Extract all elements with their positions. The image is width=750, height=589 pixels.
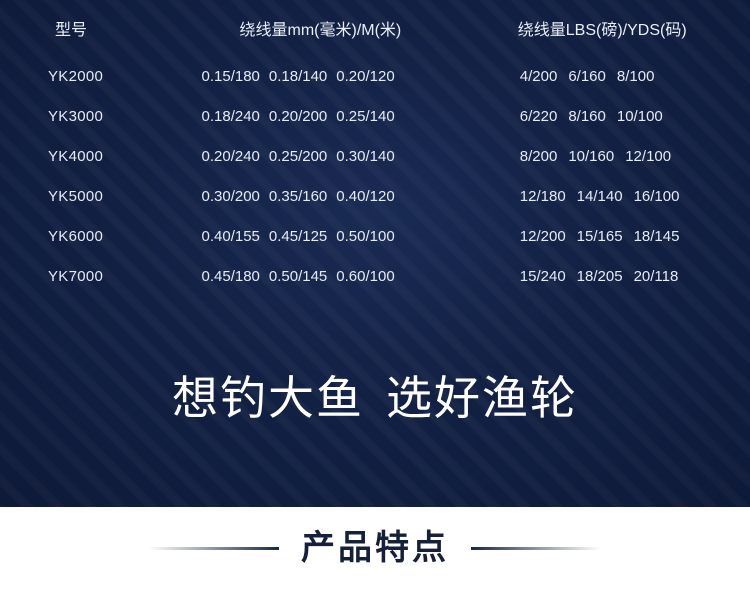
capacity-mm-value: 0.20/240 — [202, 148, 260, 165]
capacity-lbs-group: 8/20010/16012/100 — [520, 148, 671, 165]
capacity-lbs-value: 15/240 — [520, 268, 566, 285]
capacity-mm-value: 0.45/180 — [202, 268, 260, 285]
capacity-mm-value: 0.25/200 — [269, 148, 327, 165]
product-features-heading: 产品特点 — [0, 507, 750, 589]
capacity-mm-group: 0.20/2400.25/2000.30/140 — [202, 148, 395, 165]
capacity-lbs-value: 8/200 — [520, 148, 558, 165]
capacity-lbs-value: 4/200 — [520, 68, 558, 85]
capacity-mm-value: 0.35/160 — [269, 188, 327, 205]
cell-model: YK5000 — [0, 176, 202, 216]
capacity-mm-group: 0.40/1550.45/1250.50/100 — [202, 228, 395, 245]
cell-capacity-mm: 0.30/2000.35/1600.40/120 — [202, 176, 508, 216]
capacity-lbs-value: 6/160 — [568, 68, 606, 85]
capacity-mm-value: 0.45/125 — [269, 228, 327, 245]
table-row: YK5000 0.30/2000.35/1600.40/120 12/18014… — [0, 176, 750, 216]
capacity-lbs-value: 8/160 — [568, 108, 606, 125]
table-header-row: 型号 绕线量mm(毫米)/M(米) 绕线量LBS(磅)/YDS(码) — [0, 0, 750, 56]
specs-panel-content: 型号 绕线量mm(毫米)/M(米) 绕线量LBS(磅)/YDS(码) YK200… — [0, 0, 750, 507]
capacity-mm-group: 0.15/1800.18/1400.20/120 — [202, 68, 395, 85]
capacity-lbs-value: 8/100 — [617, 68, 655, 85]
cell-capacity-lbs: 12/20015/16518/145 — [508, 216, 750, 256]
capacity-mm-value: 0.18/140 — [269, 68, 327, 85]
cell-capacity-mm: 0.40/1550.45/1250.50/100 — [202, 216, 508, 256]
table-row: YK7000 0.45/1800.50/1450.60/100 15/24018… — [0, 256, 750, 296]
cell-capacity-lbs: 15/24018/20520/118 — [508, 256, 750, 296]
table-row: YK6000 0.40/1550.45/1250.50/100 12/20015… — [0, 216, 750, 256]
capacity-mm-group: 0.18/2400.20/2000.25/140 — [202, 108, 395, 125]
capacity-lbs-group: 12/18014/14016/100 — [520, 188, 680, 205]
capacity-mm-value: 0.50/100 — [336, 228, 394, 245]
section-title: 产品特点 — [301, 531, 449, 565]
capacity-lbs-group: 6/2208/16010/100 — [520, 108, 663, 125]
capacity-lbs-value: 12/200 — [520, 228, 566, 245]
table-row: YK3000 0.18/2400.20/2000.25/140 6/2208/1… — [0, 96, 750, 136]
table-body: YK2000 0.15/1800.18/1400.20/120 4/2006/1… — [0, 56, 750, 296]
capacity-lbs-value: 15/165 — [577, 228, 623, 245]
capacity-lbs-value: 18/205 — [577, 268, 623, 285]
cell-model: YK2000 — [0, 56, 202, 96]
table-row: YK4000 0.20/2400.25/2000.30/140 8/20010/… — [0, 136, 750, 176]
capacity-mm-value: 0.30/200 — [202, 188, 260, 205]
capacity-mm-group: 0.30/2000.35/1600.40/120 — [202, 188, 395, 205]
heading-rule-left — [149, 547, 279, 550]
capacity-lbs-value: 20/118 — [634, 268, 679, 285]
cell-capacity-lbs: 6/2208/16010/100 — [508, 96, 750, 136]
capacity-lbs-value: 18/145 — [634, 228, 680, 245]
table-header: 型号 绕线量mm(毫米)/M(米) 绕线量LBS(磅)/YDS(码) — [0, 0, 750, 56]
capacity-mm-value: 0.25/140 — [336, 108, 394, 125]
column-header-model: 型号 — [0, 0, 202, 56]
capacity-mm-value: 0.60/100 — [336, 268, 394, 285]
capacity-lbs-value: 12/180 — [520, 188, 566, 205]
capacity-lbs-value: 6/220 — [520, 108, 558, 125]
capacity-mm-group: 0.45/1800.50/1450.60/100 — [202, 268, 395, 285]
capacity-mm-value: 0.40/120 — [336, 188, 394, 205]
cell-model: YK3000 — [0, 96, 202, 136]
capacity-mm-value: 0.20/120 — [336, 68, 394, 85]
capacity-mm-value: 0.50/145 — [269, 268, 327, 285]
capacity-mm-value: 0.30/140 — [336, 148, 394, 165]
capacity-lbs-value: 12/100 — [625, 148, 671, 165]
cell-capacity-lbs: 4/2006/1608/100 — [508, 56, 750, 96]
capacity-lbs-value: 10/100 — [617, 108, 663, 125]
capacity-lbs-value: 10/160 — [568, 148, 614, 165]
cell-capacity-lbs: 8/20010/16012/100 — [508, 136, 750, 176]
marketing-tagline: 想钓大鱼选好渔轮 — [0, 372, 750, 425]
tagline-part-1: 想钓大鱼 — [172, 372, 364, 424]
heading-rule-right — [471, 547, 601, 550]
capacity-lbs-group: 12/20015/16518/145 — [520, 228, 680, 245]
cell-capacity-mm: 0.20/2400.25/2000.30/140 — [202, 136, 508, 176]
cell-capacity-mm: 0.15/1800.18/1400.20/120 — [202, 56, 508, 96]
capacity-lbs-group: 15/24018/20520/118 — [520, 268, 679, 285]
column-header-capacity-lbs: 绕线量LBS(磅)/YDS(码) — [508, 0, 750, 56]
capacity-mm-value: 0.40/155 — [202, 228, 260, 245]
capacity-mm-value: 0.20/200 — [269, 108, 327, 125]
column-header-capacity-mm: 绕线量mm(毫米)/M(米) — [202, 0, 508, 56]
cell-model: YK7000 — [0, 256, 202, 296]
capacity-mm-value: 0.18/240 — [202, 108, 260, 125]
capacity-lbs-group: 4/2006/1608/100 — [520, 68, 655, 85]
capacity-mm-value: 0.15/180 — [202, 68, 260, 85]
capacity-lbs-value: 16/100 — [634, 188, 680, 205]
cell-capacity-mm: 0.45/1800.50/1450.60/100 — [202, 256, 508, 296]
capacity-lbs-value: 14/140 — [577, 188, 623, 205]
cell-capacity-lbs: 12/18014/14016/100 — [508, 176, 750, 216]
specs-panel: 型号 绕线量mm(毫米)/M(米) 绕线量LBS(磅)/YDS(码) YK200… — [0, 0, 750, 507]
cell-model: YK6000 — [0, 216, 202, 256]
line-capacity-table: 型号 绕线量mm(毫米)/M(米) 绕线量LBS(磅)/YDS(码) YK200… — [0, 0, 750, 296]
tagline-part-2: 选好渔轮 — [386, 372, 578, 424]
product-detail-page: 型号 绕线量mm(毫米)/M(米) 绕线量LBS(磅)/YDS(码) YK200… — [0, 0, 750, 589]
cell-model: YK4000 — [0, 136, 202, 176]
table-row: YK2000 0.15/1800.18/1400.20/120 4/2006/1… — [0, 56, 750, 96]
cell-capacity-mm: 0.18/2400.20/2000.25/140 — [202, 96, 508, 136]
